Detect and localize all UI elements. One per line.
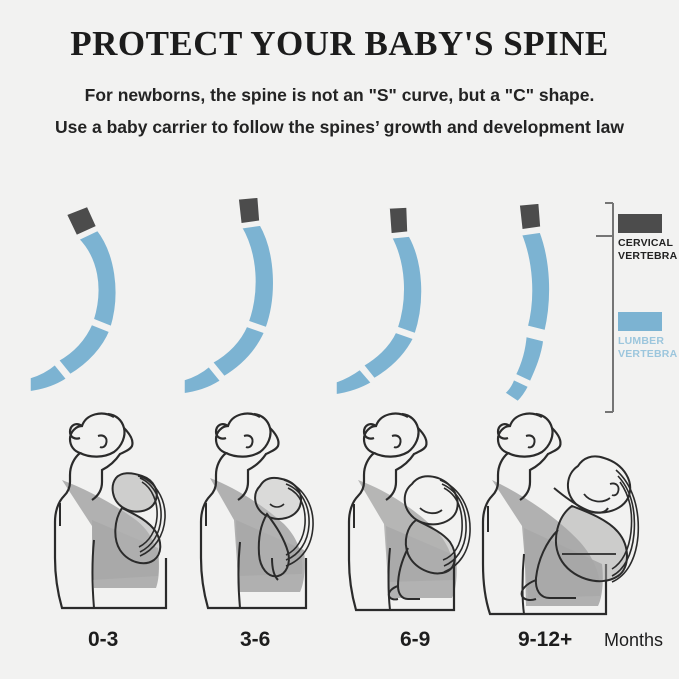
thoracic-segment-icon	[520, 231, 551, 332]
carrier-svg-3-6	[172, 408, 347, 623]
thoracic-segment-icon	[390, 235, 423, 335]
spine-legend: CERVICAL VERTEBRA LUMBER VERTEBRA	[596, 200, 679, 415]
cervical-segment-icon	[237, 196, 261, 225]
baby-face-line	[420, 508, 442, 513]
infographic-poster: PROTECT YOUR BABY'S SPINE For newborns, …	[0, 0, 679, 679]
baby-head-outline	[113, 473, 157, 511]
baby-head-outline	[405, 476, 458, 524]
legend-label-lumber-line1: LUMBER	[618, 335, 679, 348]
legend-swatch-cervical-icon	[618, 214, 662, 233]
legend-label-lumber-line2: VERTEBRA	[618, 348, 679, 361]
mother-torso-line	[523, 554, 525, 614]
thoracic-segment-icon	[77, 229, 117, 328]
baby-ear-icon	[610, 483, 619, 495]
spine-svg-6-9	[330, 190, 480, 420]
carrier-figure-3-6	[172, 408, 347, 623]
carrier-svg-0-3	[18, 408, 193, 623]
mother-ear-icon	[392, 435, 401, 447]
carrier-figure-row	[0, 408, 679, 623]
subtitle-line-2: Use a baby carrier to follow the spines’…	[0, 117, 679, 138]
mother-ear-icon	[244, 435, 253, 447]
mother-ear-icon	[98, 435, 107, 447]
age-label-9-12-plus: 9-12+	[518, 628, 572, 652]
legend-item-cervical: CERVICAL VERTEBRA	[618, 214, 679, 262]
subtitle-line-1: For newborns, the spine is not an "S" cu…	[0, 85, 679, 106]
lumbar-segment-icon	[211, 325, 266, 378]
legend-item-lumber: LUMBER VERTEBRA	[618, 312, 679, 360]
spine-diagram-3-6	[180, 190, 330, 420]
spine-illustration-row	[0, 190, 679, 420]
baby-body-outline	[259, 514, 289, 576]
spine-svg-3-6	[180, 190, 330, 420]
lumbar-segment-icon	[514, 335, 545, 383]
age-label-row: 0-3 3-6 6-9 9-12+ Months	[0, 628, 679, 662]
baby-head-outline	[255, 478, 301, 519]
age-label-6-9: 6-9	[400, 628, 430, 652]
legend-label-lumber: LUMBER VERTEBRA	[618, 335, 679, 360]
legend-label-cervical-line2: VERTEBRA	[618, 250, 679, 263]
months-suffix-label: Months	[604, 630, 663, 651]
legend-label-cervical-line1: CERVICAL	[618, 237, 679, 250]
spine-svg-0-3	[28, 190, 178, 420]
baby-face-line	[584, 494, 610, 501]
thoracic-segment-icon	[240, 224, 275, 329]
legend-label-cervical: CERVICAL VERTEBRA	[618, 237, 679, 262]
age-label-0-3: 0-3	[88, 628, 118, 652]
cervical-segment-icon	[518, 202, 542, 231]
spine-diagram-0-3	[28, 190, 178, 420]
lumbar-segment-icon	[57, 323, 111, 376]
cervical-segment-icon	[388, 206, 409, 235]
age-label-3-6: 3-6	[240, 628, 270, 652]
page-title: PROTECT YOUR BABY'S SPINE	[0, 24, 679, 64]
legend-swatch-lumber-icon	[618, 312, 662, 331]
mother-ear-icon	[526, 435, 535, 447]
carrier-figure-9-12-plus	[466, 408, 666, 623]
lumbar-segment-icon	[362, 331, 415, 380]
carrier-svg-9-12-plus	[466, 408, 666, 623]
carrier-figure-0-3	[18, 408, 193, 623]
spine-diagram-6-9	[330, 190, 480, 420]
